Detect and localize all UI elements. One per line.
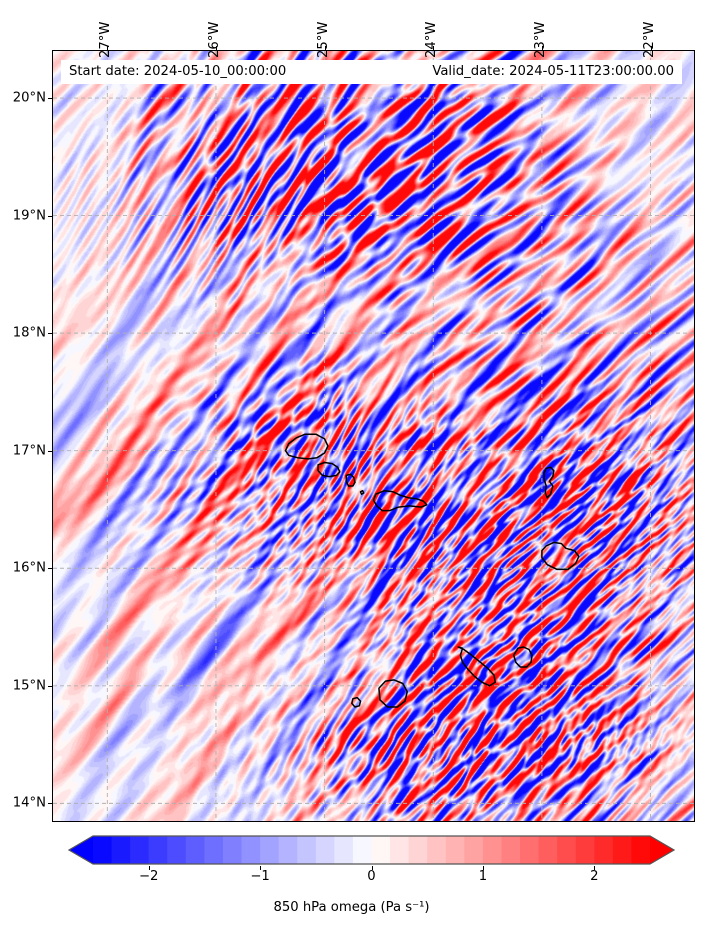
colorbar-band [520,836,539,864]
y-tick-mark [48,568,52,569]
colorbar-tick-mark [483,866,484,870]
coastline-maio [514,647,532,667]
colorbar-tick-mark [149,866,150,870]
coastline-santiago [458,647,495,686]
colorbar[interactable] [68,834,675,866]
colorbar-band [279,836,298,864]
colorbar-extend-max-arrow [650,836,674,864]
x-tick-mark [651,46,652,50]
colorbar-band [316,836,335,864]
y-tick-label: 18°N [13,326,46,341]
colorbar-tick-label: 0 [367,869,375,884]
colorbar-band [446,836,465,864]
colorbar-band [204,836,223,864]
valid-date-label: Valid_date: 2024-05-11T23:00:00.00 [432,65,674,78]
colorbar-title: 850 hPa omega (Pa s⁻¹) [0,900,703,915]
colorbar-band [390,836,409,864]
y-tick-label: 17°N [13,443,46,458]
x-tick-label: 22°W [642,22,657,58]
y-axis-ticklabels: 20°N19°N18°N17°N16°N15°N14°N [0,0,46,936]
colorbar-band [557,836,576,864]
colorbar-band [372,836,391,864]
y-tick-label: 16°N [13,561,46,576]
x-tick-label: 23°W [533,22,548,58]
y-tick-mark [48,686,52,687]
y-tick-label: 20°N [13,91,46,106]
figure-canvas: Start date: 2024-05-10_00:00:00 Valid_da… [0,0,703,936]
y-tick-label: 14°N [13,796,46,811]
colorbar-band [613,836,632,864]
coastline-s-o-vicente [318,463,340,477]
colorbar-band [260,836,279,864]
colorbar-tick-mark [594,866,595,870]
coastline-s-o-nicolau [374,491,427,511]
colorbar-band [594,836,613,864]
colorbar-gradient [68,834,675,866]
x-tick-label: 27°W [98,22,113,58]
colorbar-band [130,836,149,864]
x-tick-mark [216,46,217,50]
map-axes[interactable]: Start date: 2024-05-10_00:00:00 Valid_da… [52,50,695,822]
x-tick-label: 26°W [207,22,222,58]
x-tick-mark [433,46,434,50]
x-tick-label: 25°W [316,22,331,58]
colorbar-tick-label: 1 [479,869,487,884]
coastline-outlines [53,51,694,821]
colorbar-band [409,836,428,864]
coastline-santa-luzia [346,474,355,486]
colorbar-band [112,836,131,864]
y-tick-mark [48,333,52,334]
colorbar-band [93,836,112,864]
colorbar-band [576,836,595,864]
info-banner: Start date: 2024-05-10_00:00:00 Valid_da… [61,60,682,84]
colorbar-band [353,836,372,864]
colorbar-tick-mark [372,866,373,870]
colorbar-band [483,836,502,864]
y-tick-mark [48,216,52,217]
coastline-branco-islet [361,491,364,495]
coastline-sal [544,467,554,498]
y-tick-label: 19°N [13,208,46,223]
colorbar-band [631,836,650,864]
colorbar-band [464,836,483,864]
colorbar-tick-mark [260,866,261,870]
y-tick-label: 15°N [13,678,46,693]
coastline-fogo [379,680,407,707]
colorbar-band [501,836,520,864]
y-tick-mark [48,803,52,804]
coastline-brava [352,698,361,707]
colorbar-band [149,836,168,864]
colorbar-tick-label: 2 [590,869,598,884]
colorbar-band [223,836,242,864]
colorbar-band [334,836,353,864]
x-tick-mark [325,46,326,50]
colorbar-band [186,836,205,864]
colorbar-tick-label: −1 [250,869,269,884]
colorbar-band [297,836,316,864]
colorbar-band [539,836,558,864]
colorbar-tick-label: −2 [139,869,158,884]
y-tick-mark [48,451,52,452]
colorbar-band [427,836,446,864]
x-tick-mark [542,46,543,50]
coastline-boa-vista [542,542,579,569]
x-tick-label: 24°W [424,22,439,58]
start-date-label: Start date: 2024-05-10_00:00:00 [69,65,286,78]
colorbar-extend-min-arrow [69,836,93,864]
colorbar-band [167,836,186,864]
x-tick-mark [107,46,108,50]
y-tick-mark [48,98,52,99]
coastline-santo-ant-o [286,434,328,459]
colorbar-band [242,836,261,864]
